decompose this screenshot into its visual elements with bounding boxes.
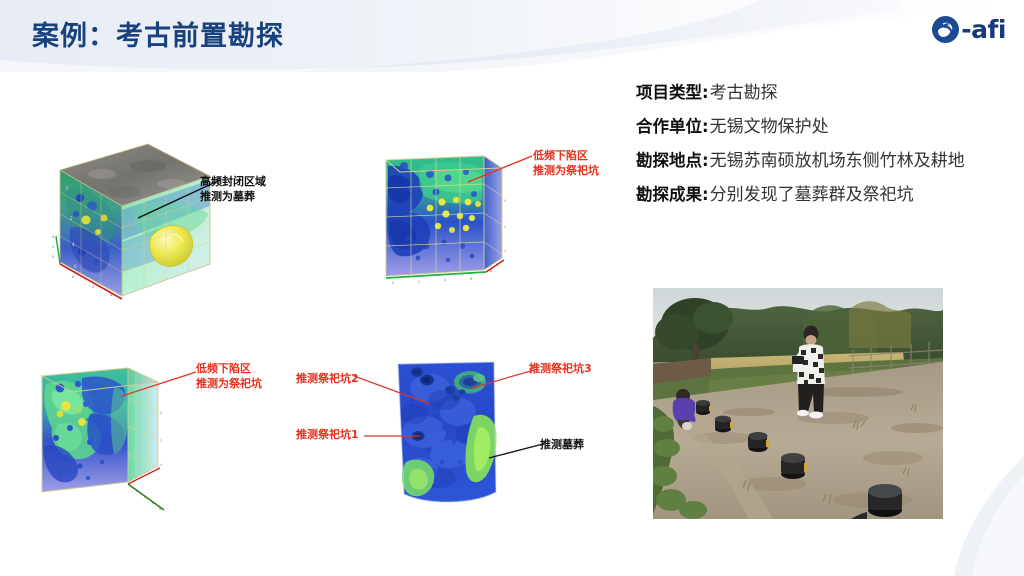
annotation-line-2: 推测为祭祀坑 xyxy=(533,163,599,178)
svg-text:0: 0 xyxy=(392,281,394,285)
svg-text:0: 0 xyxy=(52,255,55,259)
annotation-tomb: 推测墓葬 xyxy=(540,437,584,452)
annotation-pit-3: 推测祭祀坑3 xyxy=(529,361,592,376)
svg-text:2: 2 xyxy=(504,225,506,229)
annotation-line-1: 推测祭祀坑3 xyxy=(529,361,592,376)
svg-text:0: 0 xyxy=(136,489,138,493)
svg-text:0: 0 xyxy=(504,199,506,203)
annotation-line-1: 高频封闭区域 xyxy=(200,174,266,189)
info-label: 勘探地点: xyxy=(636,148,709,174)
annotation-line-1: 推测祭祀坑1 xyxy=(296,427,359,442)
svg-text:2: 2 xyxy=(92,285,94,289)
info-row: 勘探地点: 无锡苏南硕放机场东侧竹林及耕地 xyxy=(636,148,1016,174)
svg-text:4: 4 xyxy=(160,463,162,467)
field-survey-photo xyxy=(653,288,943,519)
logo-wordmark: -afi xyxy=(961,15,1006,44)
svg-text:6: 6 xyxy=(159,507,161,511)
page-title: 案例：考古前置勘探 xyxy=(32,14,284,53)
svg-text:2: 2 xyxy=(52,245,54,249)
annotation-line-1: 低频下陷区 xyxy=(196,361,262,376)
annotation-pit-1: 推测祭祀坑1 xyxy=(296,427,359,442)
svg-text:6: 6 xyxy=(470,277,472,281)
info-row: 合作单位: 无锡文物保护处 xyxy=(636,114,1016,140)
svg-text:2: 2 xyxy=(496,263,498,267)
annotation-line-2: 推测为祭祀坑 xyxy=(196,376,262,391)
annotation-high-frequency-zone: 高频封闭区域 推测为墓葬 xyxy=(200,174,266,204)
svg-text:0: 0 xyxy=(490,269,492,273)
info-value: 无锡苏南硕放机场东侧竹林及耕地 xyxy=(710,148,965,174)
annotation-low-frequency-zone-bottom: 低频下陷区 推测为祭祀坑 xyxy=(196,361,262,391)
svg-text:2: 2 xyxy=(160,439,162,443)
slide-root: 案例：考古前置勘探 -afi 项目类型: 考古勘探 xyxy=(0,0,1024,576)
info-row: 项目类型: 考古勘探 xyxy=(636,80,1016,106)
brand-logo: -afi xyxy=(931,14,1006,44)
annotation-pit-2: 推测祭祀坑2 xyxy=(296,371,359,386)
axis-y xyxy=(56,236,60,264)
svg-text:4: 4 xyxy=(444,278,446,282)
annotation-low-frequency-zone-top: 低频下陷区 推测为祭祀坑 xyxy=(533,148,599,178)
leader-line-low-freq-top xyxy=(460,150,540,190)
info-label: 合作单位: xyxy=(636,114,709,140)
annotation-line-1: 低频下陷区 xyxy=(533,148,599,163)
info-value: 考古勘探 xyxy=(710,80,778,106)
leader-line-tomb-bottom xyxy=(487,440,547,462)
svg-text:2: 2 xyxy=(144,495,146,499)
info-label: 勘探成果: xyxy=(636,182,709,208)
annotation-line-1: 推测墓葬 xyxy=(540,437,584,452)
svg-text:0: 0 xyxy=(72,275,75,279)
svg-text:0: 0 xyxy=(160,411,162,415)
info-value: 分别发现了墓葬群及祭祀坑 xyxy=(710,182,914,208)
info-value: 无锡文物保护处 xyxy=(710,114,829,140)
annotation-line-2: 推测为墓葬 xyxy=(200,189,266,204)
project-info-block: 项目类型: 考古勘探 合作单位: 无锡文物保护处 勘探地点: 无锡苏南硕放机场东… xyxy=(636,80,1016,216)
svg-text:4: 4 xyxy=(52,235,55,239)
afi-circle-logo-icon xyxy=(931,15,960,44)
annotation-line-1: 推测祭祀坑2 xyxy=(296,371,359,386)
slide-header: 案例：考古前置勘探 -afi xyxy=(0,0,1024,72)
info-row: 勘探成果: 分别发现了墓葬群及祭祀坑 xyxy=(636,182,1016,208)
leader-line-pit-1 xyxy=(362,430,424,442)
leader-line-pit-2 xyxy=(352,372,436,410)
svg-text:4: 4 xyxy=(504,249,506,253)
leader-line-low-freq-bottom xyxy=(118,368,203,402)
svg-text:4: 4 xyxy=(152,501,154,505)
info-label: 项目类型: xyxy=(636,80,709,106)
svg-text:2: 2 xyxy=(418,280,420,284)
leader-line-pit-3 xyxy=(468,368,538,392)
